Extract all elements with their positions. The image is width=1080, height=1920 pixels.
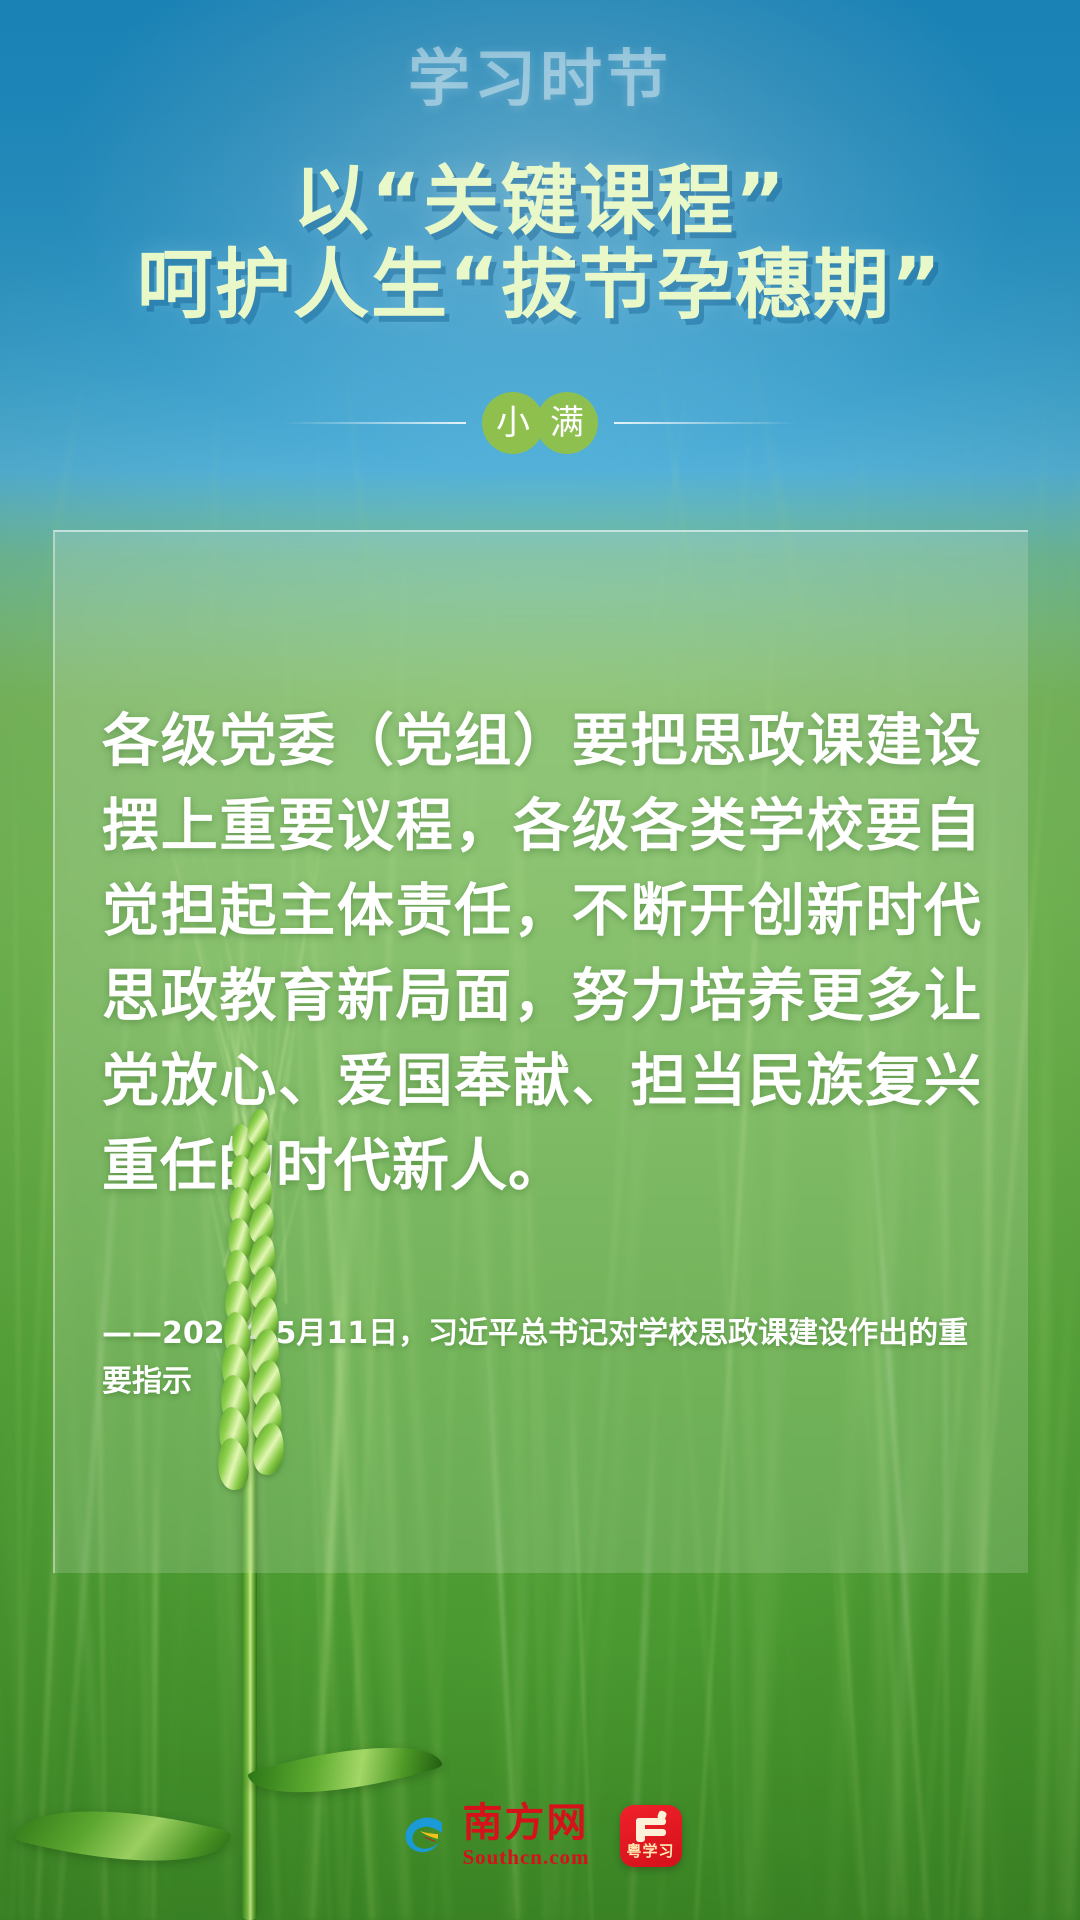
yuexuexi-mark-bar-2 (636, 1829, 666, 1836)
southcn-swoosh-icon (398, 1809, 452, 1863)
badge-circles: 小 满 (482, 392, 598, 454)
yuexuexi-mark-bar-1 (636, 1818, 666, 1825)
quote-card: 各级党委（党组）要把思政课建设摆上重要议程，各级各类学校要自觉担起主体责任，不断… (53, 530, 1028, 1573)
yuexuexi-app-icon[interactable]: 粤学习 (620, 1805, 682, 1867)
yuexuexi-label: 粤学习 (620, 1840, 682, 1861)
page-title: 以“关键课程” 呵护人生“拔节孕穗期” (0, 159, 1080, 327)
brand-text: 学习时节 (408, 42, 672, 115)
solar-term-char-1: 小 (482, 392, 544, 454)
badge-rule-right (614, 422, 798, 424)
solar-term-char-2: 满 (536, 392, 598, 454)
headline-line-1: 以“关键课程” (0, 159, 1080, 243)
southcn-name-en: Southcn.com (462, 1847, 589, 1868)
badge-rule-left (282, 422, 466, 424)
solar-term-badge: 小 满 (0, 392, 1080, 454)
footer-logos: 南方网 Southcn.com 粤学习 (0, 1803, 1080, 1868)
southcn-logo[interactable]: 南方网 Southcn.com (398, 1803, 589, 1868)
poster-canvas: 学习时节 以“关键课程” 呵护人生“拔节孕穗期” 小 满 各级党委（党组）要把思… (0, 0, 1080, 1920)
southcn-wordmark: 南方网 Southcn.com (462, 1803, 589, 1868)
program-brand-wordmark: 学习时节 (0, 48, 1080, 110)
southcn-name-cn: 南方网 (462, 1803, 589, 1843)
headline-line-2: 呵护人生“拔节孕穗期” (0, 243, 1080, 327)
